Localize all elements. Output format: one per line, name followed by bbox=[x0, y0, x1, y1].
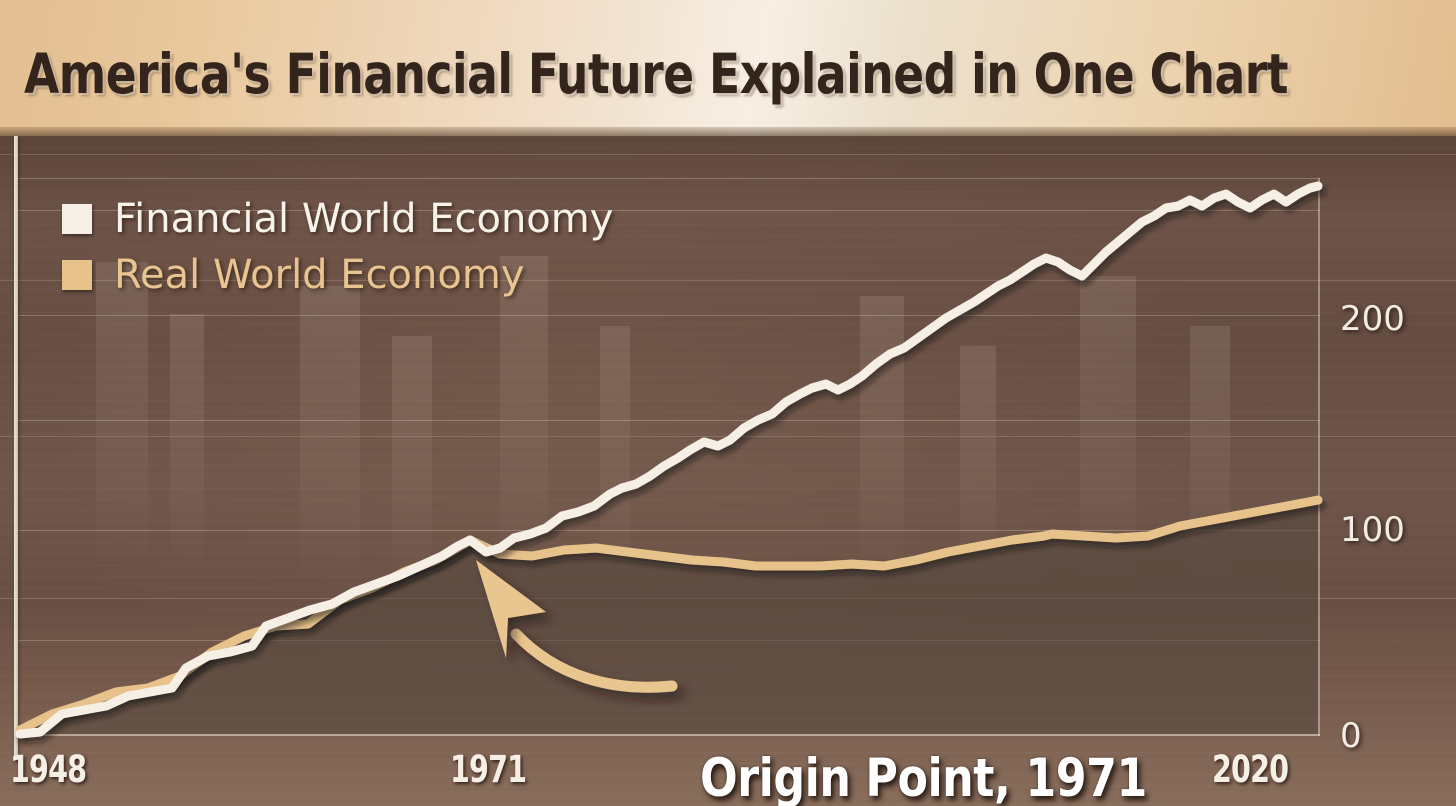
legend-item-real-world-economy[interactable]: Real World Economy bbox=[62, 254, 613, 296]
x-tick-2020: 2020 bbox=[1212, 748, 1288, 791]
legend-swatch-real-icon bbox=[62, 260, 92, 290]
title-bar: America's Financial Future Explained in … bbox=[0, 0, 1456, 136]
chart-canvas: Financial World Economy Real World Econo… bbox=[0, 136, 1456, 806]
page-title: America's Financial Future Explained in … bbox=[24, 44, 1288, 104]
annotation-origin-point: Origin Point, 1971 bbox=[700, 748, 1147, 806]
y-tick-200: 200 bbox=[1340, 299, 1405, 339]
legend-label-real: Real World Economy bbox=[114, 254, 525, 296]
screenshot-root: America's Financial Future Explained in … bbox=[0, 0, 1456, 806]
y-tick-100: 100 bbox=[1340, 510, 1405, 550]
legend: Financial World Economy Real World Econo… bbox=[62, 198, 613, 310]
x-tick-1948: 1948 bbox=[10, 748, 86, 791]
legend-label-financial: Financial World Economy bbox=[114, 198, 613, 240]
y-tick-0: 0 bbox=[1340, 716, 1362, 756]
legend-item-financial-world-economy[interactable]: Financial World Economy bbox=[62, 198, 613, 240]
legend-swatch-financial-icon bbox=[62, 204, 92, 234]
x-tick-1971: 1971 bbox=[450, 748, 526, 791]
